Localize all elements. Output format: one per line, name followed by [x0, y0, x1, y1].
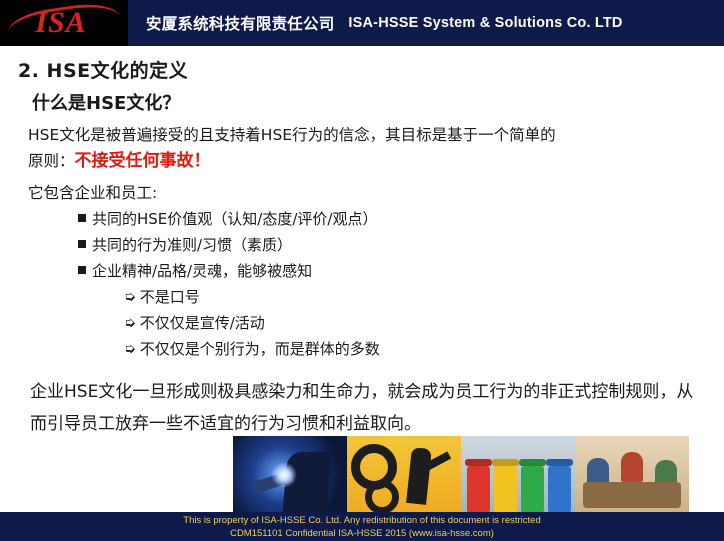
bullet-label: 共同的HSE价值观（认知/态度/评价/观点） [92, 206, 377, 232]
slide-body: 2. HSE文化的定义 什么是HSE文化？ HSE文化是被普遍接受的且支持着HS… [0, 46, 724, 512]
meeting-people-illustration [575, 436, 689, 520]
list-item: 共同的HSE价值观（认知/态度/评价/观点） [78, 206, 377, 232]
list-item: ➭ 不仅仅是宣传/活动 [124, 310, 380, 336]
company-name-en: ISA-HSSE System & Solutions Co. LTD [348, 15, 622, 31]
bin-yellow [494, 466, 517, 512]
square-bullet-icon [78, 214, 86, 222]
includes-label: 它包含企业和员工: [28, 181, 157, 203]
definition-line-2: 原则：不接受任何事故！ [28, 148, 704, 174]
definition-line-1: HSE文化是被普遍接受的且支持着HSE行为的信念，其目标是基于一个简单的 [28, 122, 704, 148]
gears-worker-illustration [347, 436, 461, 520]
bullet-label: 企业精神/品格/灵魂，能够被感知 [92, 258, 312, 284]
list-item: ➭ 不是口号 [124, 284, 380, 310]
table-shape [583, 482, 681, 508]
slide: ISA 安厦系统科技有限责任公司 ISA-HSSE System & Solut… [0, 0, 724, 541]
footer-line-1: This is property of ISA-HSSE Co. Ltd. An… [0, 514, 724, 527]
definition-emphasis: 不接受任何事故！ [75, 151, 211, 171]
sub-bullet-label: 不仅仅是个别行为，而是群体的多数 [140, 336, 380, 362]
company-name-cn: 安厦系统科技有限责任公司 [146, 12, 334, 34]
worker-figure [406, 447, 432, 505]
definition-paragraph: HSE文化是被普遍接受的且支持着HSE行为的信念，其目标是基于一个简单的 原则：… [28, 122, 704, 174]
definition-line-2-prefix: 原则： [28, 152, 75, 170]
arrow-bullet-icon: ➭ [124, 284, 136, 310]
slide-header: ISA 安厦系统科技有限责任公司 ISA-HSSE System & Solut… [0, 0, 724, 46]
sub-bullet-label: 不是口号 [140, 284, 200, 310]
isa-logo: ISA [0, 0, 128, 46]
gear-icon [365, 480, 399, 514]
closing-paragraph: 企业HSE文化一旦形成则极具感染力和生命力，就会成为员工行为的非正式控制规则，从… [30, 376, 696, 440]
list-item: 共同的行为准则/习惯（素质） [78, 232, 377, 258]
square-bullet-icon [78, 266, 86, 274]
square-bullet-icon [78, 240, 86, 248]
recycling-bins-illustration [461, 436, 575, 520]
logo-text: ISA [35, 6, 92, 40]
image-strip [233, 436, 691, 520]
section-title: 2. HSE文化的定义 [18, 56, 188, 83]
list-item: 企业精神/品格/灵魂，能够被感知 [78, 258, 377, 284]
bin-green [521, 466, 544, 512]
slide-footer: This is property of ISA-HSSE Co. Ltd. An… [0, 512, 724, 541]
bin-blue [548, 466, 571, 512]
sub-bullet-list: ➭ 不是口号 ➭ 不仅仅是宣传/活动 ➭ 不仅仅是个别行为，而是群体的多数 [124, 284, 380, 362]
header-title: 安厦系统科技有限责任公司 ISA-HSSE System & Solutions… [128, 12, 724, 34]
list-item: ➭ 不仅仅是个别行为，而是群体的多数 [124, 336, 380, 362]
bullet-list: 共同的HSE价值观（认知/态度/评价/观点） 共同的行为准则/习惯（素质） 企业… [78, 206, 377, 284]
welding-worker-photo [233, 436, 347, 520]
arrow-bullet-icon: ➭ [124, 336, 136, 362]
sub-bullet-label: 不仅仅是宣传/活动 [140, 310, 265, 336]
footer-line-2: CDM151101 Confidential ISA-HSSE 2015 (ww… [0, 527, 724, 540]
bullet-label: 共同的行为准则/习惯（素质） [92, 232, 292, 258]
person-figure [621, 452, 643, 482]
welder-figure [282, 452, 332, 516]
section-subtitle: 什么是HSE文化？ [32, 89, 180, 115]
bin-red [467, 466, 490, 512]
arrow-bullet-icon: ➭ [124, 310, 136, 336]
